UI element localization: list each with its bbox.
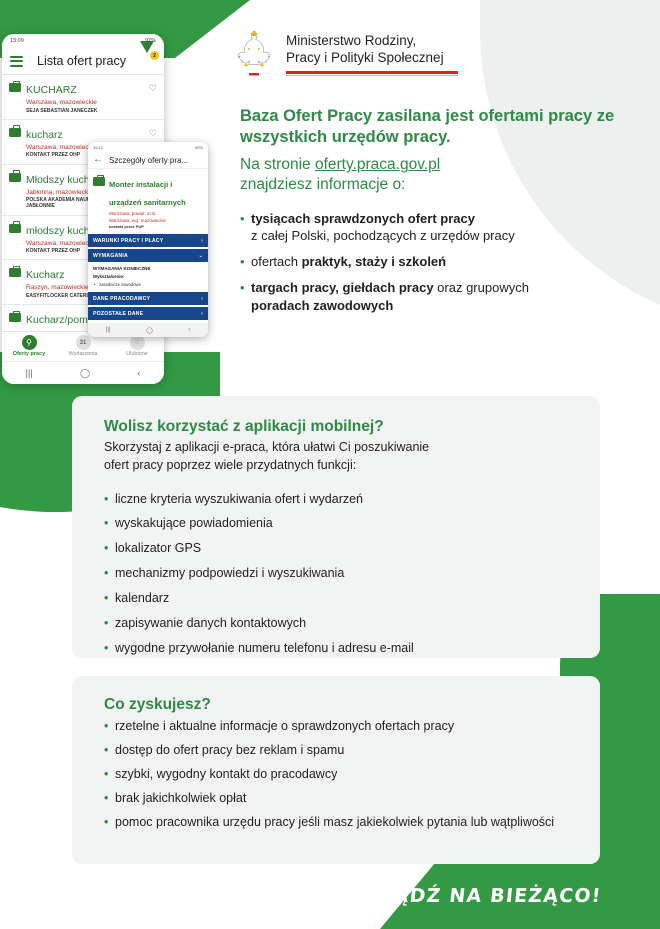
nav-label-favourites: Ulubione [126, 351, 148, 357]
detail-section-other[interactable]: POZOSTAŁE DANE › [88, 307, 208, 320]
card-benefits-bullet: rzetelne i aktualne informacje o sprawdz… [104, 718, 572, 735]
card-app-lead-2: ofert pracy poprzez wiele przydatnych fu… [104, 457, 572, 475]
card-mobile-app: Wolisz korzystać z aplikacji mobilnej? S… [72, 396, 600, 658]
intro-bullet: targach pracy, giełdach pracy oraz grupo… [240, 279, 640, 314]
back-button[interactable]: ‹ [137, 368, 140, 378]
detail-section-requirements-label: WYMAGANIA [93, 253, 128, 259]
detail-requirements-subheading: Wykształcenie: [88, 271, 208, 279]
briefcase-icon [9, 83, 21, 92]
briefcase-icon [9, 224, 21, 233]
calendar-icon: 31 [76, 335, 91, 350]
home-button[interactable]: ◯ [146, 327, 153, 334]
detail-requirements-heading: WYMAGANIA KONIECZNE [88, 262, 208, 271]
home-button[interactable]: ◯ [80, 368, 90, 379]
chevron-right-icon: › [201, 238, 203, 244]
card-app-bullet: zapisywanie danych kontaktowych [104, 615, 572, 632]
briefcase-icon [9, 313, 21, 322]
notification-badge: 2 [150, 51, 159, 60]
recents-button[interactable]: ||| [26, 368, 33, 378]
banner-slogan: BĄDŹ NA BIEŻĄCO! [377, 885, 603, 907]
detail-app-bar: ← Szczegóły oferty pra... [88, 152, 208, 169]
chevron-down-icon: ⌄ [198, 253, 203, 259]
briefcase-icon [93, 177, 105, 186]
offer-title: Kucharz [26, 269, 65, 281]
intro-bullet-list: tysiącach sprawdzonych ofert pracyz całe… [240, 210, 640, 314]
detail-requirements-item: zasadnicze zawodowe [88, 279, 208, 287]
card-benefits-heading: Co zyskujesz? [104, 696, 572, 714]
card-benefits-bullet-list: rzetelne i aktualne informacje o sprawdz… [104, 718, 572, 830]
recents-button[interactable]: ||| [106, 327, 111, 333]
offers-website-link[interactable]: oferty.praca.gov.pl [315, 156, 440, 173]
nav-item-offers[interactable]: ⚲ Oferty pracy [2, 332, 56, 362]
notification-bell-icon[interactable]: 2 [140, 53, 156, 69]
polish-eagle-emblem-icon [232, 28, 276, 78]
ministry-red-rule [286, 71, 458, 74]
chevron-right-icon: › [201, 311, 203, 317]
intro-bullet: ofertach praktyk, staży i szkoleń [240, 253, 640, 270]
back-arrow-icon[interactable]: ← [93, 155, 103, 165]
heart-icon: ♡ [130, 335, 145, 350]
detail-section-employer-label: DANE PRACODAWCY [93, 296, 150, 302]
search-icon: ⚲ [22, 335, 37, 350]
detail-status-time: 15:12 [93, 145, 103, 150]
card-app-bullet: lokalizator GPS [104, 540, 572, 557]
offer-title: KUCHARZ [26, 84, 77, 96]
card-app-bullet: liczne kryteria wyszukiwania ofert i wyd… [104, 491, 572, 508]
hamburger-menu-icon[interactable] [10, 56, 23, 67]
intro-heading: Baza Ofert Pracy zasilana jest ofertami … [240, 106, 640, 147]
briefcase-icon [9, 173, 21, 182]
android-system-nav[interactable]: ||| ◯ ‹ [2, 361, 164, 384]
card-app-heading: Wolisz korzystać z aplikacji mobilnej? [104, 418, 572, 436]
detail-offer-location-2: Warszawa, woj. mazowieckie [109, 218, 203, 224]
briefcase-icon [9, 268, 21, 277]
card-app-bullet-list: liczne kryteria wyszukiwania ofert i wyd… [104, 491, 572, 657]
intro-sub-suffix: znajdziesz informacje o: [240, 175, 640, 195]
detail-status-battery: 90% [195, 145, 203, 150]
card-benefits-bullet: szybki, wygodny kontakt do pracodawcy [104, 766, 572, 783]
detail-title: Szczegóły oferty pra... [109, 156, 188, 165]
ministry-grey-rule [286, 75, 458, 77]
favourite-heart-icon[interactable]: ♡ [149, 128, 157, 139]
detail-offer-note: kontakt przez PUP [109, 224, 203, 229]
detail-section-other-label: POZOSTAŁE DANE [93, 311, 143, 317]
ministry-name-line-1: Ministerstwo Rodziny, [286, 32, 458, 49]
phone-app-bar: Lista ofert pracy 2 [2, 48, 164, 75]
briefcase-icon [9, 128, 21, 137]
favourite-heart-icon[interactable]: ♡ [149, 83, 157, 94]
intro-bullet: tysiącach sprawdzonych ofert pracyz całe… [240, 210, 640, 245]
chevron-right-icon: › [201, 296, 203, 302]
offer-list-item[interactable]: KUCHARZWarszawa, mazowieckieSEJA SEBASTI… [2, 75, 164, 120]
detail-offer-location-1: Warszawa, powiat: m.st. [109, 211, 203, 217]
nav-label-offers: Oferty pracy [13, 351, 45, 357]
detail-section-employer[interactable]: DANE PRACODAWCY › [88, 292, 208, 305]
card-benefits-bullet: brak jakichkolwiek opłat [104, 790, 572, 807]
status-time: 13:09 [10, 38, 24, 44]
detail-section-conditions[interactable]: WARUNKI PRACY I PŁACY › [88, 234, 208, 247]
card-app-lead-1: Skorzystaj z aplikacji e-praca, która uł… [104, 439, 572, 457]
detail-section-requirements[interactable]: WYMAGANIA ⌄ [88, 249, 208, 262]
offer-employer: SEJA SEBASTIAN JANECZEK [26, 108, 157, 114]
detail-section-conditions-label: WARUNKI PRACY I PŁACY [93, 238, 163, 244]
detail-offer-header: Monter instalacji i urządzeń sanitarnych… [88, 169, 208, 232]
intro-subline: Na stronie oferty.praca.gov.pl [240, 155, 640, 175]
card-app-bullet: wyskakujące powiadomienia [104, 515, 572, 532]
detail-status-bar: 15:12 90% [88, 142, 208, 152]
intro-block: Baza Ofert Pracy zasilana jest ofertami … [240, 106, 640, 323]
offer-title: kucharz [26, 129, 63, 141]
card-benefits-bullet: pomoc pracownika urzędu pracy jeśli masz… [104, 814, 572, 831]
phone-app-title: Lista ofert pracy [31, 54, 132, 68]
card-app-bullet: wygodne przywołanie numeru telefonu i ad… [104, 640, 572, 657]
ministry-header: Ministerstwo Rodziny, Pracy i Polityki S… [232, 28, 458, 78]
nav-label-events: Wydarzenia [69, 351, 98, 357]
offer-location: Warszawa, mazowieckie [26, 99, 157, 106]
card-app-bullet: kalendarz [104, 590, 572, 607]
back-button[interactable]: ‹ [188, 327, 190, 333]
detail-offer-title: Monter instalacji i urządzeń sanitarnych [109, 180, 186, 207]
intro-sub-prefix: Na stronie [240, 156, 315, 173]
phone-mockup-offer-detail: 15:12 90% ← Szczegóły oferty pra... Mont… [88, 142, 208, 337]
detail-android-system-nav[interactable]: ||| ◯ ‹ [88, 323, 208, 337]
card-app-bullet: mechanizmy podpowiedzi i wyszukiwania [104, 565, 572, 582]
card-benefits-bullet: dostęp do ofert pracy bez reklam i spamu [104, 742, 572, 759]
ministry-name-line-2: Pracy i Polityki Społecznej [286, 49, 458, 66]
card-benefits: Co zyskujesz? rzetelne i aktualne inform… [72, 676, 600, 864]
